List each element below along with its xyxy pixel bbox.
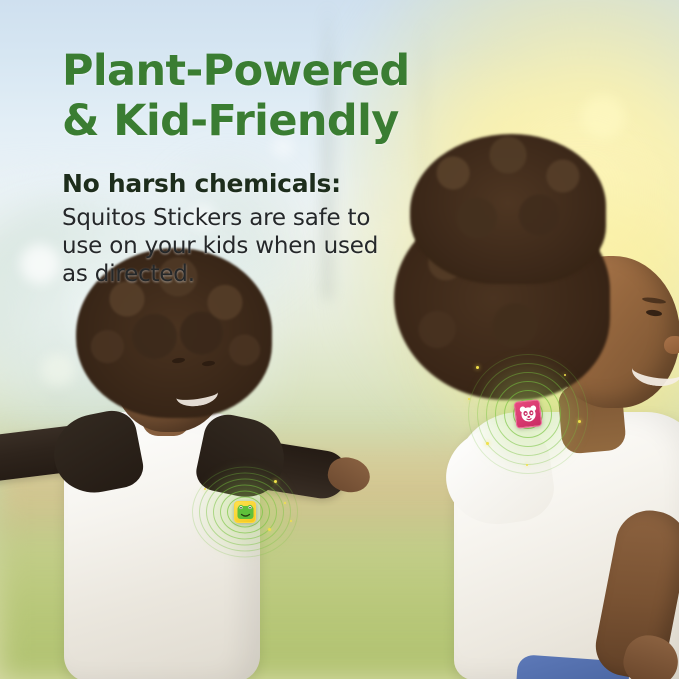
sparkle-particle: [476, 366, 479, 369]
sparkle-particle: [284, 502, 286, 504]
frog-sticker: [234, 501, 256, 523]
sparkle-particle: [486, 442, 489, 445]
subheading: No harsh chemicals:: [62, 169, 482, 199]
sparkle-particle: [564, 374, 566, 376]
frog-face-icon: [237, 504, 254, 521]
sparkle-particle: [204, 488, 206, 490]
panda-face-icon: [518, 404, 539, 425]
frog-sticker-badge: [186, 462, 304, 562]
right-child-nose: [664, 336, 679, 354]
page-title: Plant-Powered & Kid-Friendly: [62, 46, 482, 146]
sparkle-particle: [578, 420, 581, 423]
sparkle-particle: [268, 528, 271, 531]
sparkle-particle: [526, 464, 528, 466]
product-lifestyle-image: Plant-Powered & Kid-Friendly No harsh ch…: [0, 0, 679, 679]
sparkle-particle: [290, 520, 292, 522]
left-child: [0, 262, 366, 679]
marketing-copy-block: Plant-Powered & Kid-Friendly No harsh ch…: [62, 46, 482, 288]
panda-sticker-badge: [464, 350, 592, 478]
panda-sticker: [514, 399, 543, 429]
sparkle-particle: [274, 480, 277, 483]
sparkle-particle: [468, 398, 470, 400]
bokeh-highlight: [581, 95, 625, 139]
body-copy: Squitos Stickers are safe to use on your…: [62, 204, 482, 288]
